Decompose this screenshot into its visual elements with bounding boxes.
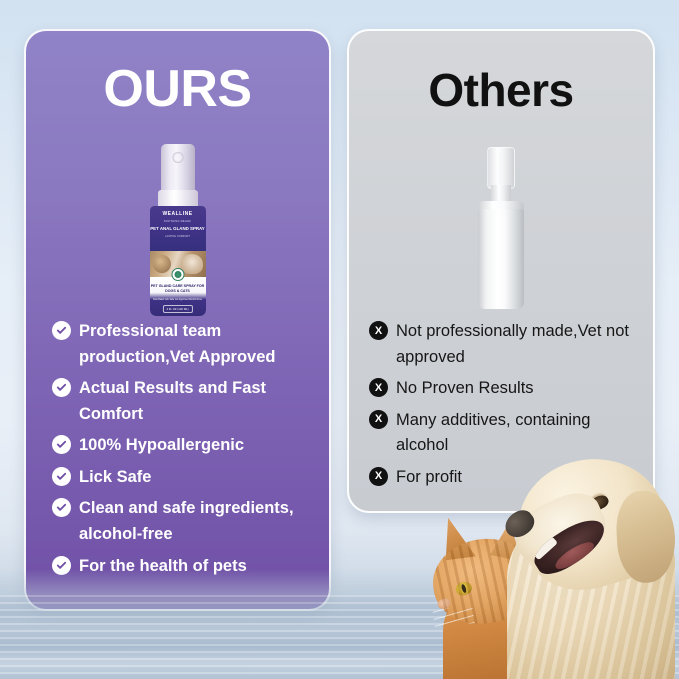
cat-ear-left-icon <box>436 514 476 564</box>
others-title: Others <box>349 31 653 117</box>
list-item-label: Professional team production,Vet Approve… <box>79 319 311 370</box>
list-item: X No Proven Results <box>369 376 639 402</box>
cat-eye <box>454 580 473 597</box>
list-item-label: Clean and safe ingredients, alcohol-free <box>79 496 311 547</box>
ours-title: OURS <box>26 31 329 119</box>
list-item: Professional team production,Vet Approve… <box>52 319 311 370</box>
list-item: Lick Safe <box>52 465 311 491</box>
others-product-bottle <box>474 147 528 311</box>
check-circle-icon <box>52 321 71 340</box>
list-item-label: No Proven Results <box>396 376 534 402</box>
x-circle-icon: X <box>369 378 388 397</box>
bottle-cap-icon <box>161 144 195 196</box>
list-item: Actual Results and Fast Comfort <box>52 376 311 427</box>
bottle-tagline: LASTING COMFORT <box>150 235 206 238</box>
list-item-label: Lick Safe <box>79 465 151 491</box>
dog-open-mouth <box>528 511 612 581</box>
bottle-features: Fast Relief Lick Safe Vet Approved Alcoh… <box>150 299 206 303</box>
bottle-label-bottom: PET GLAND CARE SPRAY FOR DOGS & CATS Fas… <box>150 277 206 316</box>
bottle-body: WEALLINE SOOTHING RELIEF PET ANAL GLAND … <box>150 206 206 316</box>
bottle-brand: WEALLINE <box>150 211 206 217</box>
bottle-product-name: PET ANAL GLAND SPRAY <box>150 226 206 232</box>
x-circle-icon: X <box>369 321 388 340</box>
list-item-label: Actual Results and Fast Comfort <box>79 376 311 427</box>
plain-bottle-cap-icon <box>487 147 515 189</box>
check-circle-icon <box>52 378 71 397</box>
list-item: X Not professionally made,Vet not approv… <box>369 319 639 370</box>
ours-benefit-list: Professional team production,Vet Approve… <box>26 319 329 585</box>
list-item-label: 100% Hypoallergenic <box>79 433 244 459</box>
ours-product-bottle: WEALLINE SOOTHING RELIEF PET ANAL GLAND … <box>150 144 206 316</box>
quality-seal-icon <box>171 268 184 281</box>
x-circle-icon: X <box>369 410 388 429</box>
bottle-size: 4 FL OZ (120 ML) <box>162 305 192 313</box>
list-item: 100% Hypoallergenic <box>52 433 311 459</box>
bottle-subtitle: SOOTHING RELIEF <box>150 220 206 223</box>
x-circle-icon: X <box>369 467 388 486</box>
dog-image <box>485 427 679 679</box>
check-circle-icon <box>52 498 71 517</box>
pets-photo <box>419 417 679 679</box>
list-item: Clean and safe ingredients, alcohol-free <box>52 496 311 547</box>
list-item-label: Not professionally made,Vet not approved <box>396 319 639 370</box>
bottle-label-top: WEALLINE SOOTHING RELIEF PET ANAL GLAND … <box>150 206 206 251</box>
check-circle-icon <box>52 467 71 486</box>
ours-panel: OURS WEALLINE SOOTHING RELIEF PET ANAL G… <box>24 29 331 611</box>
check-circle-icon <box>52 435 71 454</box>
dog-nose-icon <box>500 505 538 542</box>
plain-bottle-body <box>478 209 524 309</box>
